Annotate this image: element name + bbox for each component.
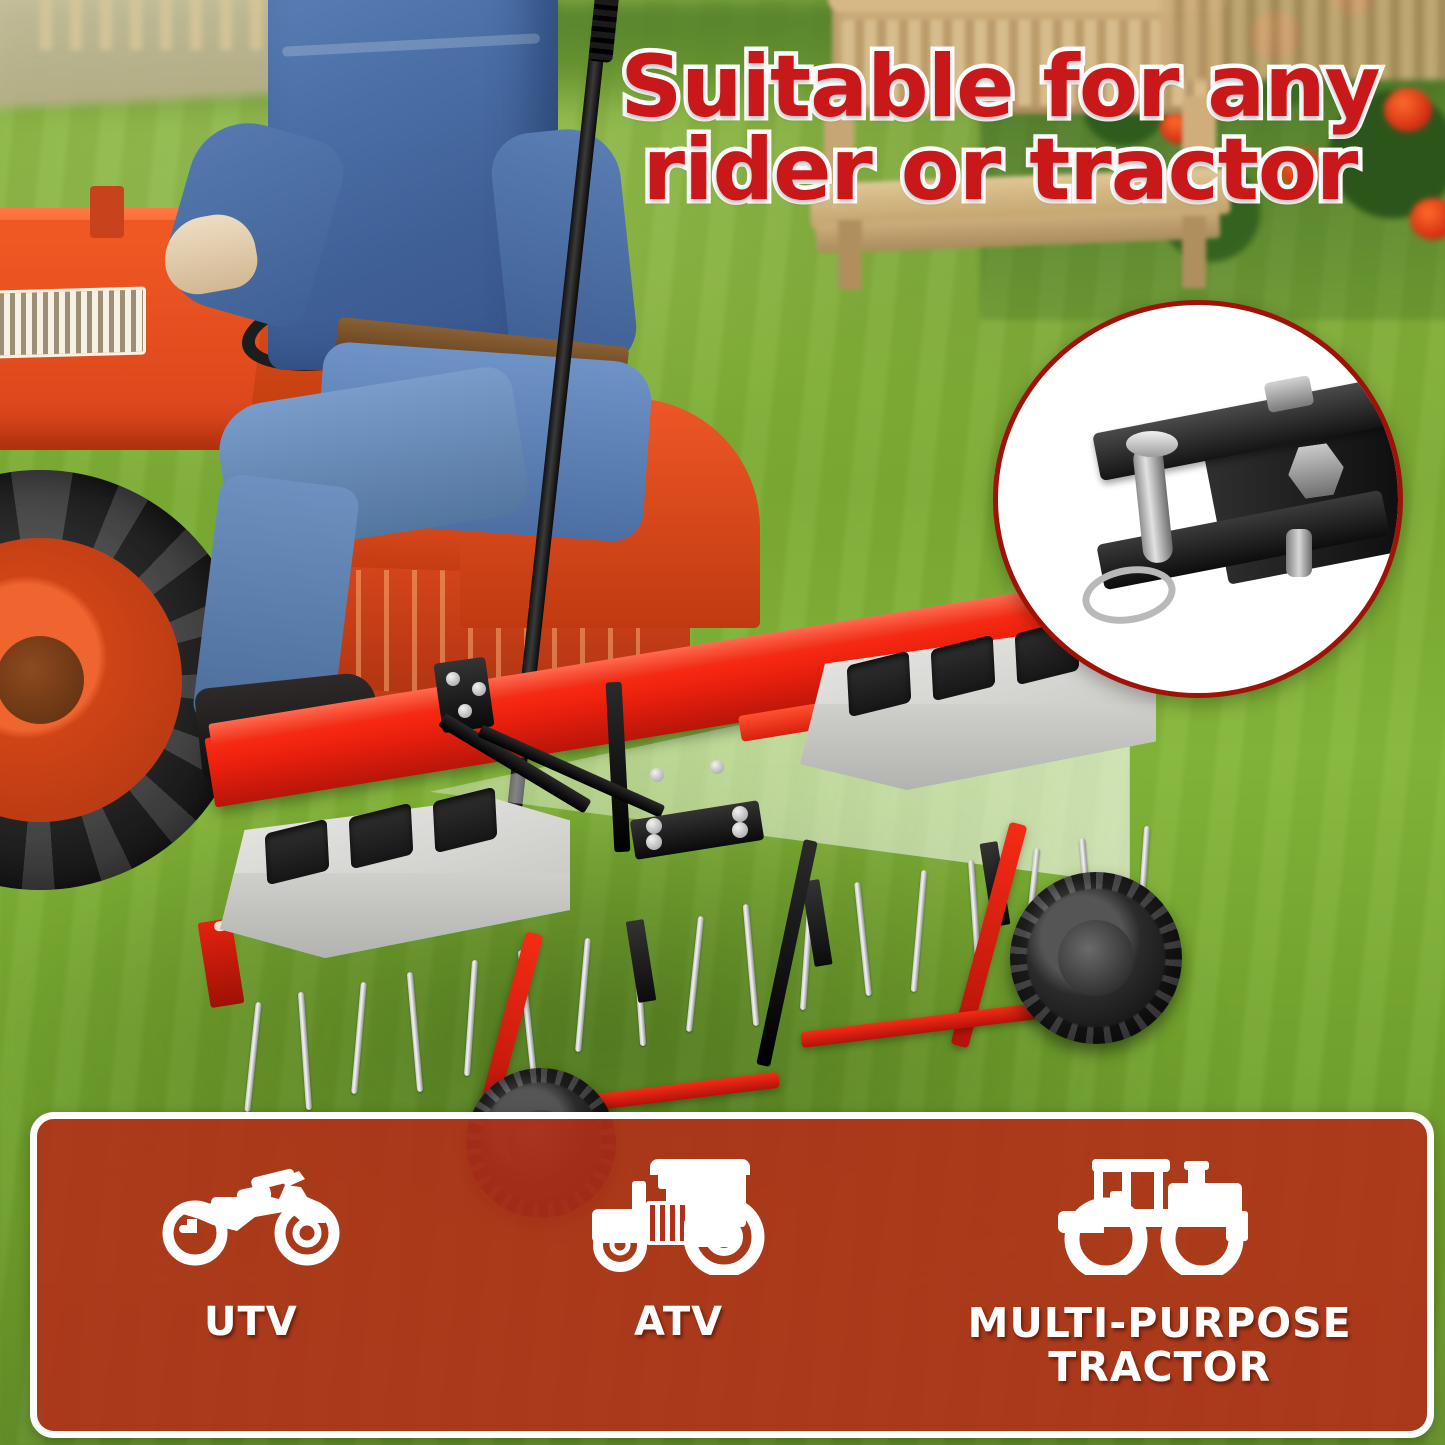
banner-label-utv: UTV: [204, 1301, 298, 1344]
banner-label-multi-purpose-tractor: MULTI-PURPOSE TRACTOR: [968, 1301, 1352, 1390]
headline-line-1: Suitable for any: [565, 46, 1435, 129]
headline-line-2: rider or tractor: [565, 129, 1435, 212]
compatibility-banner: UTV: [30, 1112, 1434, 1438]
banner-item-multi-purpose-tractor: MULTI-PURPOSE TRACTOR: [892, 1119, 1427, 1390]
tractor-icon: [584, 1149, 774, 1275]
bench-leg-right: [1182, 216, 1206, 288]
tractor-fuel-cap: [90, 186, 124, 238]
dethatcher-tine: [911, 870, 928, 992]
banner-item-utv: UTV: [37, 1119, 465, 1344]
banner-label-line-2: TRACTOR: [1048, 1343, 1271, 1391]
bar-bolt: [710, 760, 724, 774]
dethatcher-tine: [244, 1002, 261, 1112]
dethatcher-tine: [575, 938, 591, 1052]
dethatcher-tine: [854, 882, 872, 996]
bracket-bolt: [732, 806, 748, 822]
hitch-bolt: [472, 682, 486, 696]
dethatcher-tine: [407, 972, 423, 1092]
dethatcher-tine: [298, 992, 312, 1110]
product-marketing-image: Suitable for any rider or tractor: [0, 0, 1445, 1445]
clevis-pin-head: [1126, 431, 1178, 457]
hitch-bolt: [458, 704, 472, 718]
block-front-face: [800, 704, 1156, 791]
banner-item-atv: ATV: [465, 1119, 893, 1344]
clevis-lower-stud: [1286, 529, 1312, 577]
banner-label-atv: ATV: [634, 1301, 723, 1344]
bracket-bolt: [646, 834, 662, 850]
hitch-closeup-inset: [993, 300, 1403, 698]
dethatcher-wheel-right: [1010, 872, 1182, 1044]
bracket-bolt: [646, 818, 662, 834]
page-title: Suitable for any rider or tractor: [565, 46, 1435, 213]
tractor-wheel-hub: [0, 636, 84, 724]
dethatcher-tine: [351, 982, 367, 1094]
wheel-hub: [1058, 920, 1134, 996]
dethatcher-tine: [743, 904, 760, 1026]
tractor-grille-vent: [0, 287, 146, 362]
hitch-bolt: [446, 672, 460, 686]
bracket-bolt: [732, 822, 748, 838]
bar-bolt: [650, 768, 664, 782]
motorcycle-icon: [151, 1149, 351, 1275]
banner-label-line-1: MULTI-PURPOSE: [968, 1299, 1352, 1347]
bench-leg-left: [838, 220, 862, 290]
dethatcher-tine: [686, 916, 704, 1032]
block-front-face: [220, 873, 570, 959]
dethatcher-tine: [464, 960, 478, 1076]
tow-behind-dethatcher: [180, 620, 1300, 1140]
tine-bracket: [626, 919, 657, 1003]
multi-purpose-tractor-icon: [1050, 1149, 1270, 1275]
